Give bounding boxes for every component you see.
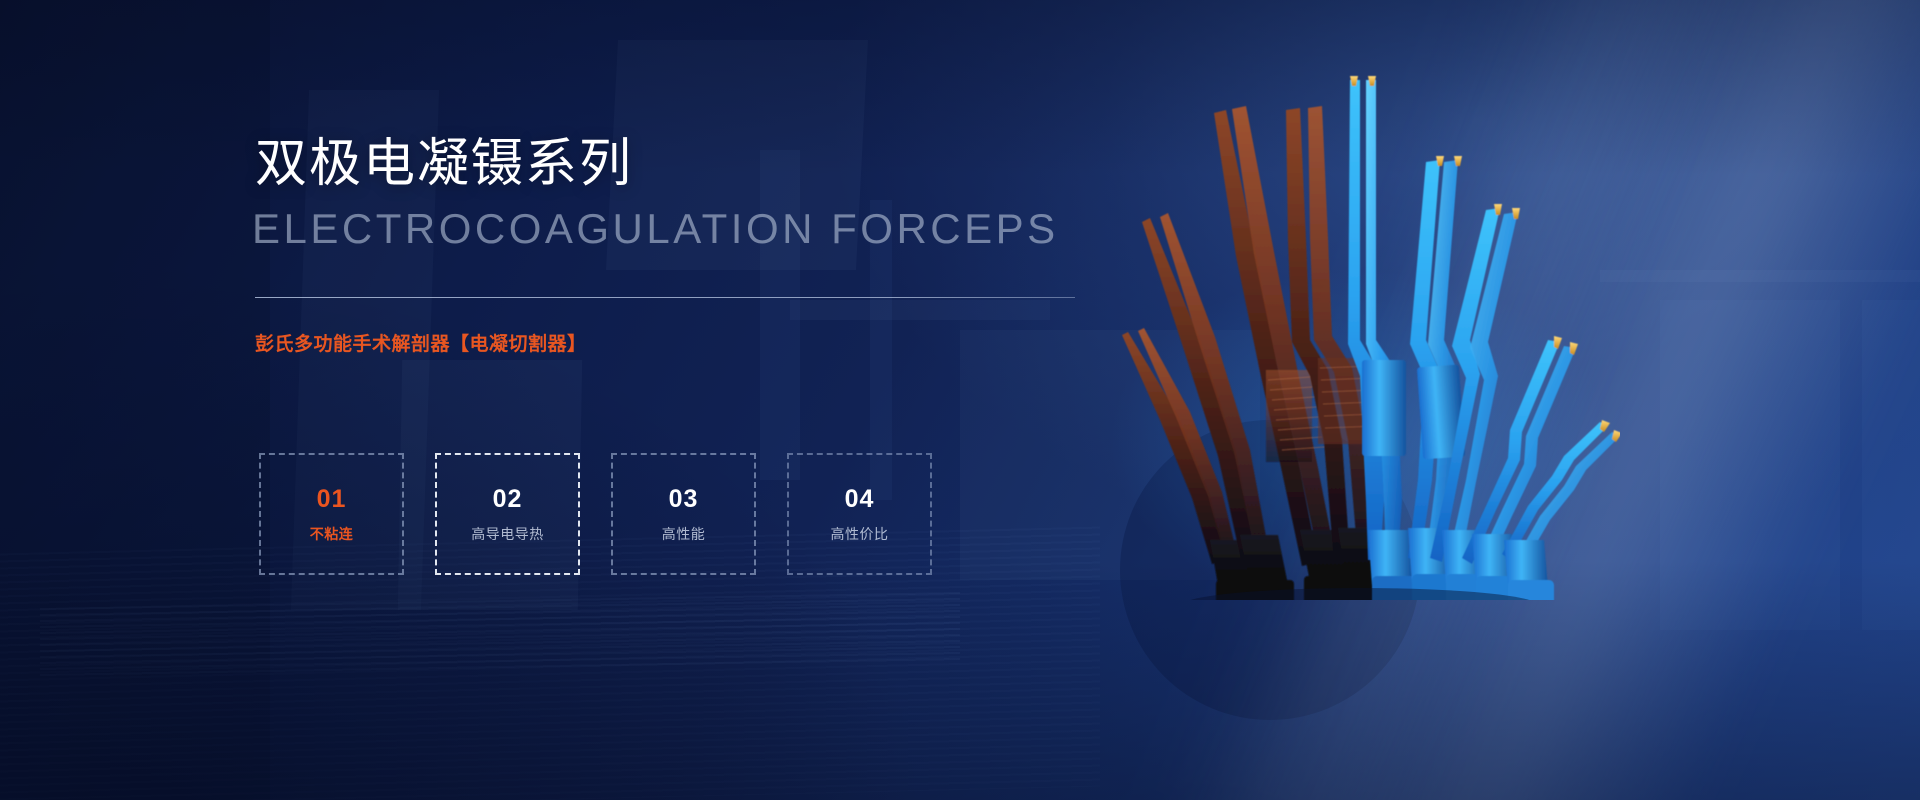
forceps-bronze-3 [1214,106,1354,600]
feature-number: 01 [317,487,347,512]
bg-ghost-screen [1862,300,1920,630]
forceps-blue-center [1348,76,1418,600]
forceps-blue-5 [1502,420,1620,600]
forceps-bronze-4 [1286,106,1392,600]
title-divider [255,297,1075,298]
light-shaft [1142,0,1920,800]
bg-ghost-ring [1120,420,1420,720]
bg-ghost-rail [1600,270,1920,282]
feature-box-01[interactable]: 01 不粘连 [259,453,404,575]
feature-box-03[interactable]: 03 高性能 [611,453,756,575]
product-subtitle: 彭氏多功能手术解剖器【电凝切割器】 [255,335,587,354]
bg-ghost-shadow [0,0,270,800]
banner-content: 双极电凝镊系列 ELECTROCOAGULATION FORCEPS 彭氏多功能… [255,0,1155,800]
feature-box-list: 01 不粘连 02 高导电导热 03 高性能 04 高性价比 [259,453,932,575]
forceps-blue-4 [1462,336,1578,600]
feature-box-04[interactable]: 04 高性价比 [787,453,932,575]
feature-box-02[interactable]: 02 高导电导热 [435,453,580,575]
forceps-blue-2 [1408,156,1465,600]
product-banner: 双极电凝镊系列 ELECTROCOAGULATION FORCEPS 彭氏多功能… [0,0,1920,800]
page-title-cn: 双极电凝镊系列 [255,138,633,190]
forceps-bronze-group [1122,106,1392,600]
feature-label: 不粘连 [310,527,354,541]
page-title-en: ELECTROCOAGULATION FORCEPS [252,208,1059,250]
light-shaft-secondary [1154,0,1827,800]
forceps-blue-group [1348,76,1620,600]
bg-ghost-screen [1660,300,1840,630]
feature-label: 高导电导热 [471,527,544,541]
feature-number: 02 [493,487,523,512]
feature-number: 04 [845,487,875,512]
forceps-bronze-2 [1142,213,1294,600]
feature-label: 高性价比 [831,527,889,541]
feature-label: 高性能 [662,527,706,541]
feature-number: 03 [669,487,699,512]
forceps-blue-3 [1430,204,1520,600]
